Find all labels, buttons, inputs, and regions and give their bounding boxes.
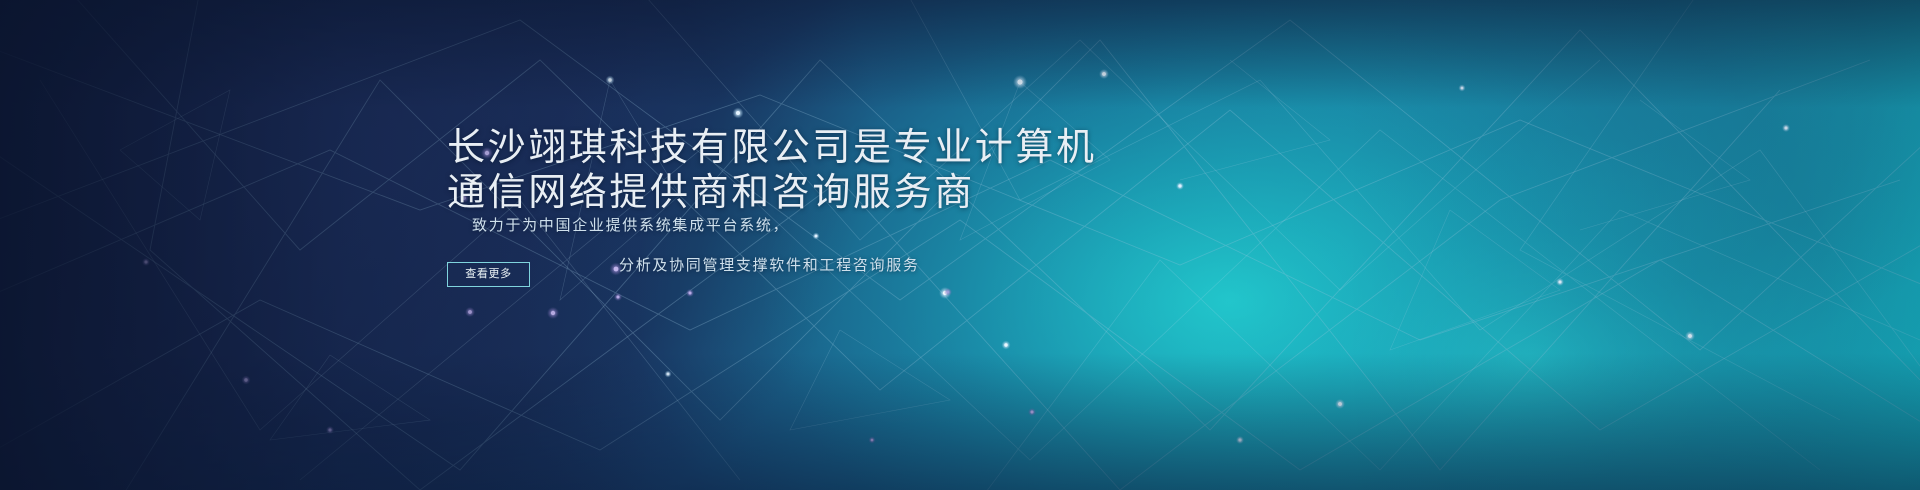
subtitle-line-2: 分析及协同管理支撑软件和工程咨询服务 [619,255,1519,277]
view-more-button[interactable]: 查看更多 [447,262,530,287]
hero-banner: 长沙翊琪科技有限公司是专业计算机 通信网络提供商和咨询服务商 致力于为中国企业提… [0,0,1920,490]
page-title: 长沙翊琪科技有限公司是专业计算机 通信网络提供商和咨询服务商 [447,126,1347,216]
headline-line-1: 长沙翊琪科技有限公司是专业计算机 [447,126,1347,171]
hero-content: 长沙翊琪科技有限公司是专业计算机 通信网络提供商和咨询服务商 致力于为中国企业提… [447,0,1347,490]
headline-line-2: 通信网络提供商和咨询服务商 [447,171,1347,216]
subtitle-line-1: 致力于为中国企业提供系统集成平台系统， [472,215,1372,237]
